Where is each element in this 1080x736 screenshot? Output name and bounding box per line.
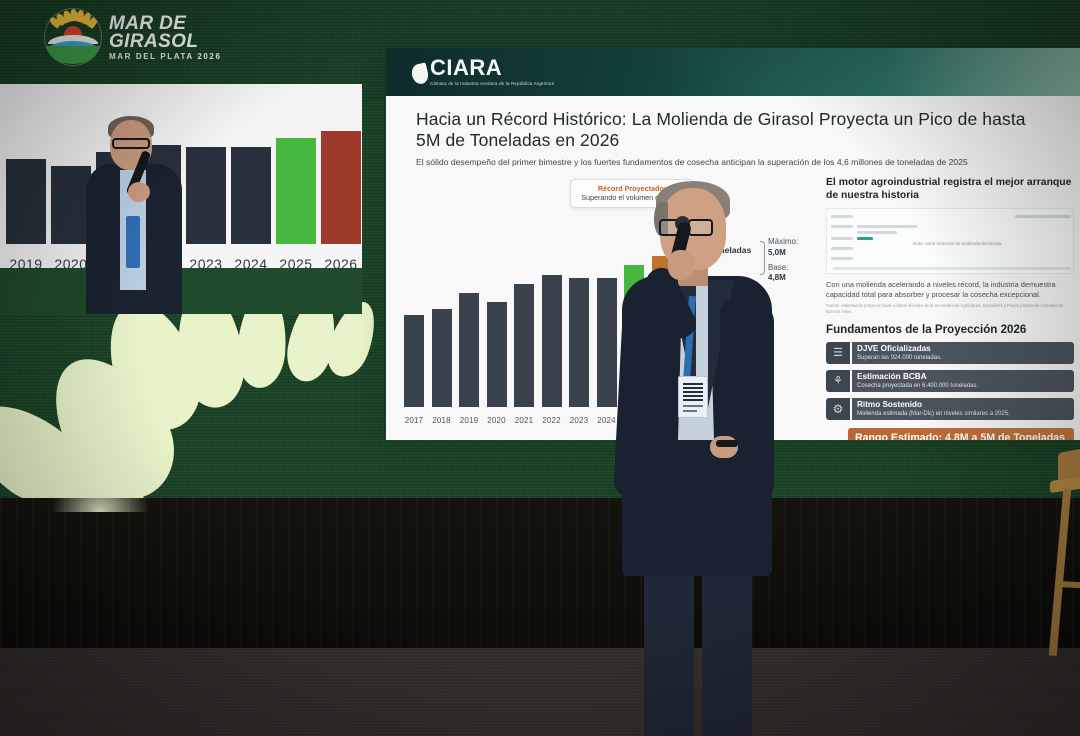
speaker-leg-left — [644, 560, 694, 736]
feature-body: Ritmo Sostenido Molienda estimada (Mar-D… — [852, 398, 1074, 420]
feature-body: DJVE Oficializadas Superan las 924.000 t… — [852, 342, 1074, 364]
brace-max-value: 5,0M — [768, 248, 798, 258]
speaker-arm-left — [613, 307, 671, 499]
glasses-icon — [688, 219, 713, 236]
right-panel-fine-print: Fuente: elaboración propia en base a dat… — [826, 303, 1074, 315]
conference-stage-photo: MAR DE GIRASOL MAR DEL PLATA 2026 201920… — [0, 0, 1080, 736]
chart-bar — [404, 315, 424, 407]
pip-chart-bar — [231, 147, 271, 244]
feature-title: Ritmo Sostenido — [857, 400, 1069, 410]
range-banner-text: Rango Estimado: 4,8M a 5M de Toneladas A… — [855, 432, 1067, 440]
event-logo: MAR DE GIRASOL MAR DEL PLATA 2026 — [44, 8, 222, 66]
ciara-logo: CIARA Cámara de la Industria Aceitera de… — [412, 57, 554, 88]
pip-camera-feed: 20192020202120222023202420252026 — [0, 84, 362, 314]
presentation-clicker-icon — [716, 440, 738, 447]
projection-brace: Máximo: 5,0M Base: 4,8M — [768, 237, 798, 284]
chart-bar — [459, 293, 479, 407]
screenshot-caption: Nota: serie mensual de molienda declarad… — [913, 241, 1002, 246]
chart-bar — [432, 309, 452, 407]
qr-code-icon — [683, 381, 703, 401]
pip-speaker-hand — [128, 182, 150, 202]
chart-bar — [569, 278, 589, 407]
feature-desc: Molienda estimada (Mar-Dic) en niveles s… — [857, 411, 1069, 419]
chart-bar — [597, 278, 617, 407]
pip-speaker-lanyard — [126, 216, 140, 268]
speaker-hand-mic — [668, 250, 694, 280]
slide-title: Hacia un Récord Histórico: La Molienda d… — [416, 109, 1054, 152]
leaf-icon — [410, 63, 430, 86]
right-panel-heading: El motor agroindustrial registra el mejo… — [826, 177, 1074, 203]
logo-field-green — [46, 46, 100, 64]
venue-floor — [0, 648, 1080, 736]
event-logo-text: MAR DE GIRASOL MAR DEL PLATA 2026 — [109, 14, 222, 61]
sunflower-logo-icon — [44, 8, 102, 66]
feature-desc: Cosecha proyectada en 6.400.000 tonelada… — [857, 383, 1069, 391]
slide-text-column: El motor agroindustrial registra el mejo… — [822, 177, 1080, 440]
document-check-icon: ☰ — [826, 342, 850, 364]
event-logo-line1: MAR DE — [109, 14, 222, 33]
speaker-legs — [640, 560, 760, 736]
pip-chart-bar — [186, 147, 226, 244]
speaker-arm-right — [720, 300, 774, 500]
speaker-leg-right — [702, 560, 752, 736]
slide-header-band: CIARA Cámara de la Industria Aceitera de… — [386, 48, 1080, 96]
pip-chart-bar — [51, 166, 91, 244]
slide-subtitle: El sólido desempeño del primer bimestre … — [416, 157, 1054, 169]
feature-row: ⚙ Ritmo Sostenido Molienda estimada (Mar… — [826, 398, 1074, 420]
brace-max-label: Máximo: — [768, 237, 798, 247]
brace-base-label: Base: — [768, 263, 798, 273]
feature-row: ⚘ Estimación BCBA Cosecha proyectada en … — [826, 370, 1074, 392]
ciara-name: CIARA — [430, 57, 554, 79]
pip-chart-bar — [6, 159, 46, 244]
embedded-table-screenshot: Nota: serie mensual de molienda declarad… — [826, 208, 1074, 274]
chart-bar — [514, 284, 534, 407]
pip-chart-bar — [276, 138, 316, 244]
ciara-subtitle: Cámara de la Industria Aceitera de la Re… — [430, 81, 554, 88]
gear-rhythm-icon: ⚙ — [826, 398, 850, 420]
pip-speaker-glasses-icon — [112, 138, 150, 149]
event-logo-line2: GIRASOL — [109, 32, 222, 51]
feature-title: DJVE Oficializadas — [857, 344, 1069, 354]
right-panel-paragraph: Con una molienda acelerando a niveles ré… — [826, 280, 1074, 300]
brace-bracket-icon — [760, 241, 765, 275]
fundamentals-heading: Fundamentos de la Proyección 2026 — [826, 323, 1074, 336]
chart-bar — [542, 275, 562, 407]
speaker-badge — [678, 376, 708, 418]
range-banner: Rango Estimado: 4,8M a 5M de Toneladas A… — [848, 428, 1074, 440]
chart-bar — [487, 302, 507, 407]
feature-desc: Superan las 924.000 toneladas. — [857, 355, 1069, 363]
sunflower-field-icon: ⚘ — [826, 370, 850, 392]
feature-title: Estimación BCBA — [857, 372, 1069, 382]
brace-base-value: 4,8M — [768, 273, 798, 283]
pip-chart-bar — [321, 131, 361, 244]
feature-row: ☰ DJVE Oficializadas Superan las 924.000… — [826, 342, 1074, 364]
stage-skirt — [0, 498, 1080, 650]
feature-body: Estimación BCBA Cosecha proyectada en 6.… — [852, 370, 1074, 392]
event-logo-line3: MAR DEL PLATA 2026 — [109, 53, 222, 61]
ciara-wordmark: CIARA Cámara de la Industria Aceitera de… — [430, 57, 554, 88]
